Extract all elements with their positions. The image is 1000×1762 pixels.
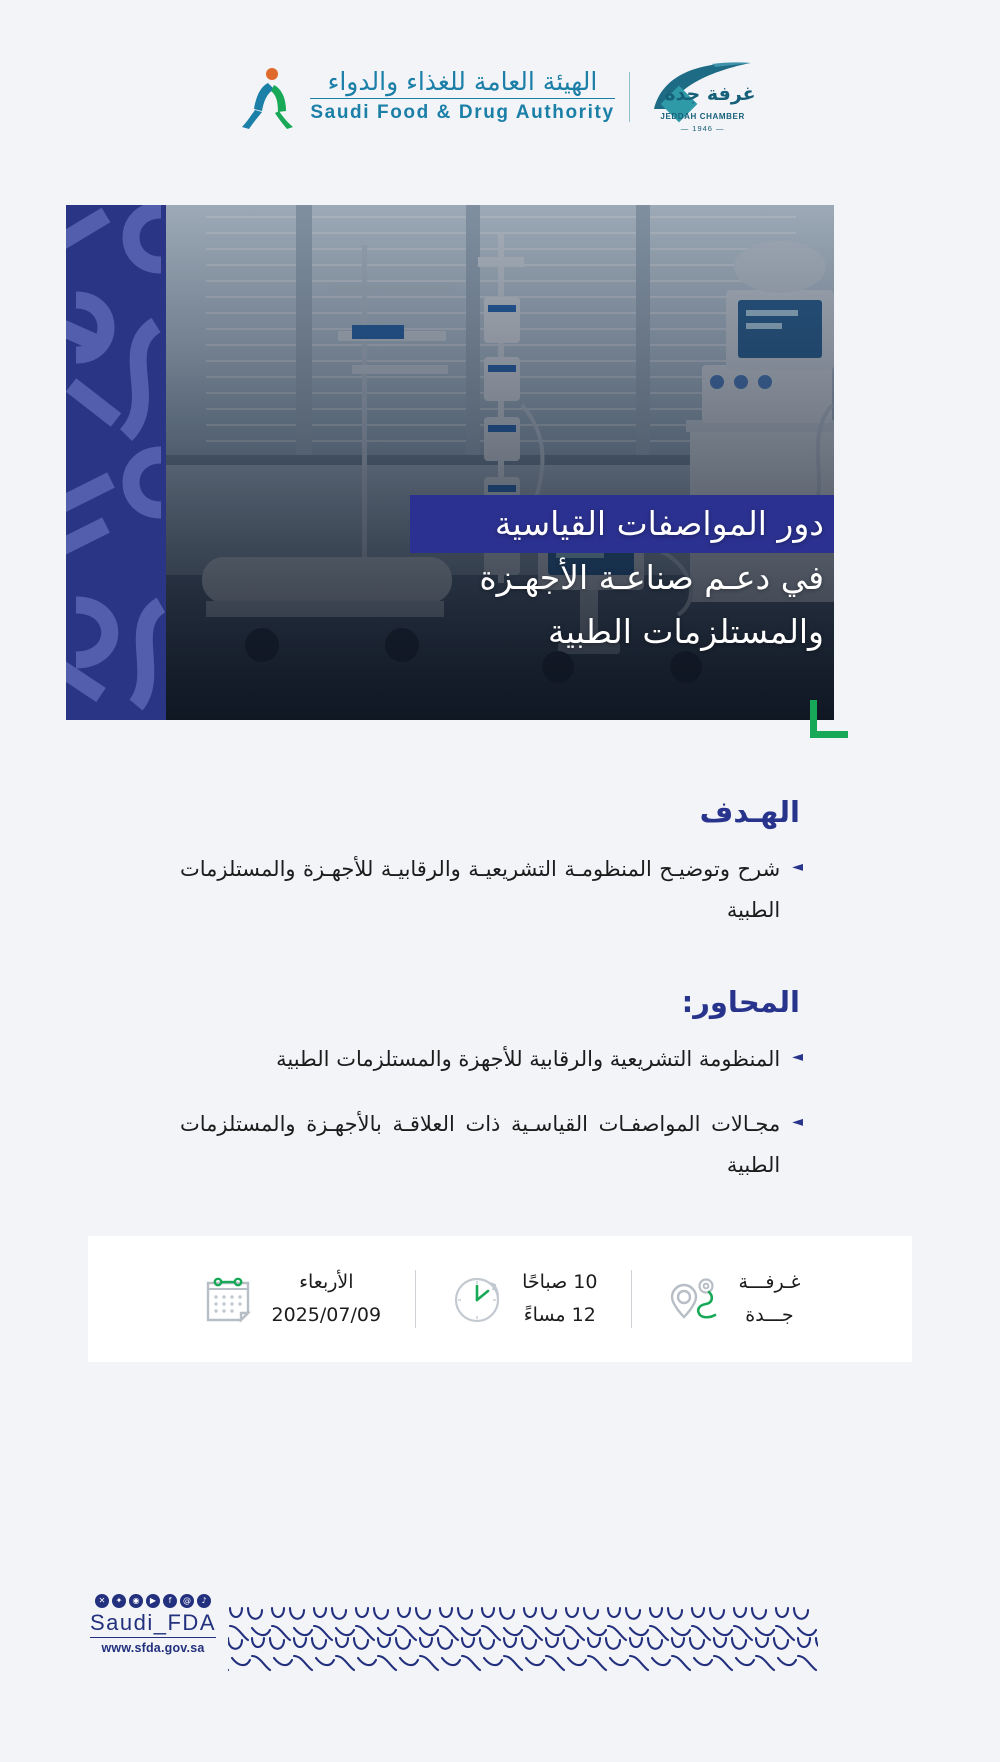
topics-heading: المحاور: xyxy=(180,985,800,1019)
objective-section: الهـدف ◄ شرح وتوضيـح المنظومـة التشريعيـ… xyxy=(180,795,800,955)
location-pin-icon xyxy=(666,1271,722,1327)
bullet-icon: ◄ xyxy=(792,1050,800,1064)
jeddah-english-label: JEDDAH CHAMBER xyxy=(644,112,762,121)
social-links[interactable]: ✕ ✦ ◉ ▶ f @ ♪ xyxy=(78,1594,228,1608)
event-time-text: 10 صباحًا 12 مساءً xyxy=(522,1266,597,1333)
event-info-bar: الأربعاء 2025/07/09 10 صباحًا 12 مساءً xyxy=(88,1236,912,1362)
event-time-start: 10 صباحًا xyxy=(522,1271,597,1293)
info-divider xyxy=(415,1270,416,1328)
event-place-line-1: غـرفـــة xyxy=(738,1271,800,1293)
hero-title-line-3: والمستلزمات الطبية xyxy=(414,605,824,659)
green-corner-accent xyxy=(810,700,848,738)
clock-icon xyxy=(450,1271,506,1327)
event-date-value: 2025/07/09 xyxy=(272,1299,382,1332)
social-handle: Saudi_FDA xyxy=(90,1610,216,1638)
topics-item-text: المنظومة التشريعية والرقابية للأجهزة وال… xyxy=(180,1039,780,1080)
jeddah-chamber-logo: غرفة جدة JEDDAH CHAMBER — 1946 — xyxy=(644,55,762,139)
objective-item-text: شرح وتوضيـح المنظومـة التشريعيـة والرقاب… xyxy=(180,849,780,931)
header-logos: غرفة جدة JEDDAH CHAMBER — 1946 — الهيئة … xyxy=(0,52,1000,142)
facebook-icon[interactable]: f xyxy=(163,1594,177,1608)
event-time-end: 12 مساءً xyxy=(522,1299,597,1332)
tiktok-icon[interactable]: ♪ xyxy=(197,1594,211,1608)
topics-section: المحاور: ◄ المنظومة التشريعية والرقابية … xyxy=(180,985,800,1210)
wave-pattern-icon xyxy=(228,1588,818,1684)
topics-item: ◄ مجـالات المواصفـات القياسـية ذات العلا… xyxy=(180,1104,800,1186)
footer-wave-pattern xyxy=(228,1588,818,1684)
hero-title-line-2: في دعـم صناعـة الأجهـزة xyxy=(414,551,824,605)
sfda-symbol-icon xyxy=(238,65,296,129)
bullet-icon: ◄ xyxy=(792,860,800,874)
objective-item: ◄ شرح وتوضيـح المنظومـة التشريعيـة والرق… xyxy=(180,849,800,931)
sfda-english-label: Saudi Food & Drug Authority xyxy=(310,102,614,124)
x-icon[interactable]: ✕ xyxy=(95,1594,109,1608)
footer-brand: ✕ ✦ ◉ ▶ f @ ♪ Saudi_FDA www.sfda.gov.sa xyxy=(78,1594,228,1655)
snapchat-icon[interactable]: ✦ xyxy=(112,1594,126,1608)
hero-side-pattern xyxy=(66,205,166,720)
hero-title: دور المواصفات القياسية في دعـم صناعـة ال… xyxy=(414,497,824,659)
event-place-cell: غـرفـــة جـــدة xyxy=(632,1266,834,1333)
jeddah-arabic-label: غرفة جدة xyxy=(664,83,755,105)
sfda-arabic-label: الهيئة العامة للغذاء والدواء xyxy=(310,68,614,100)
topics-item-text: مجـالات المواصفـات القياسـية ذات العلاقـ… xyxy=(180,1104,780,1186)
poster-root: غرفة جدة JEDDAH CHAMBER — 1946 — الهيئة … xyxy=(0,0,1000,1762)
event-day-label: الأربعاء xyxy=(299,1271,353,1293)
info-divider xyxy=(631,1270,632,1328)
hero-title-line-1: دور المواصفات القياسية xyxy=(414,497,824,551)
bullet-icon: ◄ xyxy=(792,1115,800,1129)
logo-divider xyxy=(629,72,630,122)
event-date-text: الأربعاء 2025/07/09 xyxy=(272,1266,382,1333)
calendar-icon xyxy=(200,1271,256,1327)
website-url[interactable]: www.sfda.gov.sa xyxy=(78,1641,228,1655)
event-time-cell: 10 صباحًا 12 مساءً xyxy=(416,1266,631,1333)
instagram-icon[interactable]: ◉ xyxy=(129,1594,143,1608)
youtube-icon[interactable]: ▶ xyxy=(146,1594,160,1608)
event-date-cell: الأربعاء 2025/07/09 xyxy=(166,1266,416,1333)
threads-icon[interactable]: @ xyxy=(180,1594,194,1608)
topics-item: ◄ المنظومة التشريعية والرقابية للأجهزة و… xyxy=(180,1039,800,1080)
hero-photo: دور المواصفات القياسية في دعـم صناعـة ال… xyxy=(166,205,834,720)
event-place-text: غـرفـــة جـــدة xyxy=(738,1266,800,1333)
jeddah-year-label: — 1946 — xyxy=(644,124,762,133)
sfda-logo: الهيئة العامة للغذاء والدواء Saudi Food … xyxy=(310,68,614,127)
hero-banner: دور المواصفات القياسية في دعـم صناعـة ال… xyxy=(66,205,834,720)
pattern-swirls-icon xyxy=(66,205,166,720)
objective-heading: الهـدف xyxy=(180,795,800,829)
event-place-line-2: جـــدة xyxy=(738,1299,800,1332)
